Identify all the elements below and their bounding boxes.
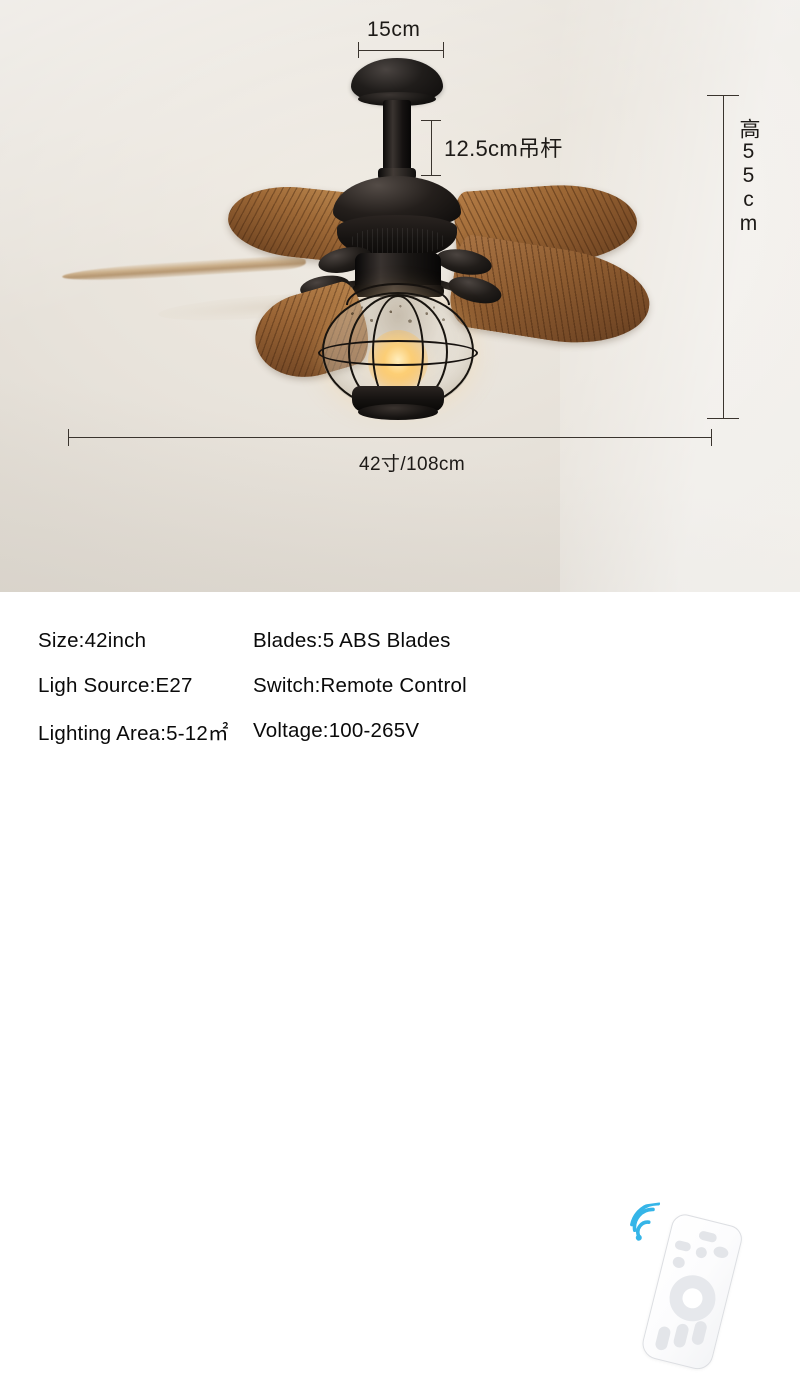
- remote-control-illustration: [628, 1204, 788, 1374]
- dimension-cap: [421, 120, 441, 121]
- cage-ring: [318, 340, 478, 366]
- remote-button-speed: [672, 1323, 689, 1349]
- dimension-line-downrod: [431, 120, 432, 176]
- spec-light-source: Ligh Source:E27: [38, 674, 253, 698]
- dimension-cap: [711, 429, 712, 446]
- spec-switch: Switch:Remote Control: [253, 674, 467, 698]
- dimension-label-blade-span: 42寸/108cm: [359, 449, 465, 476]
- dimension-line-canopy-width: [358, 50, 444, 51]
- specification-panel: Size:42inch Blades:5 ABS Blades Ligh Sou…: [0, 592, 800, 800]
- product-photo: 15cm 12.5cm吊杆 42寸/108cm 高55cm: [0, 0, 800, 592]
- remote-button-power: [698, 1230, 718, 1243]
- spec-voltage: Voltage:100-265V: [253, 719, 419, 743]
- product-spec-image: 15cm 12.5cm吊杆 42寸/108cm 高55cm Size:42inc…: [0, 0, 800, 800]
- spec-row: Size:42inch Blades:5 ABS Blades: [38, 618, 598, 663]
- dimension-cap: [421, 175, 441, 176]
- remote-button-speed: [691, 1320, 708, 1346]
- remote-button: [674, 1240, 692, 1253]
- dimension-cap: [707, 418, 739, 419]
- dimension-cap: [68, 429, 69, 446]
- wifi-dot: [635, 1234, 642, 1241]
- dimension-cap: [443, 42, 444, 58]
- spec-lighting-area-value: Lighting Area:5-12: [38, 722, 208, 745]
- fan-blade-edge-on: [62, 255, 306, 284]
- dimension-line-blade-span: [68, 437, 712, 438]
- ceiling-fan: [0, 0, 800, 592]
- spec-lighting-area-unit: ㎡: [208, 722, 229, 745]
- remote-button: [672, 1256, 686, 1270]
- downrod: [383, 100, 411, 178]
- spec-blades: Blades:5 ABS Blades: [253, 629, 451, 653]
- remote-button: [695, 1246, 708, 1259]
- globe-base-ring: [358, 404, 438, 420]
- dimension-line-total-height: [723, 95, 724, 419]
- remote-button: [712, 1245, 729, 1259]
- specification-list: Size:42inch Blades:5 ABS Blades Ligh Sou…: [38, 618, 598, 753]
- spec-size: Size:42inch: [38, 629, 253, 653]
- dimension-cap: [358, 42, 359, 58]
- dimension-cap: [707, 95, 739, 96]
- spec-lighting-area: Lighting Area:5-12㎡: [38, 716, 253, 746]
- dimension-label-downrod: 12.5cm吊杆: [444, 131, 563, 163]
- dimension-label-total-height: 高55cm: [733, 118, 763, 236]
- spec-row: Lighting Area:5-12㎡ Voltage:100-265V: [38, 708, 598, 753]
- remote-button-speed: [654, 1325, 671, 1351]
- dimension-label-canopy-width: 15cm: [367, 18, 420, 42]
- spec-row: Ligh Source:E27 Switch:Remote Control: [38, 663, 598, 708]
